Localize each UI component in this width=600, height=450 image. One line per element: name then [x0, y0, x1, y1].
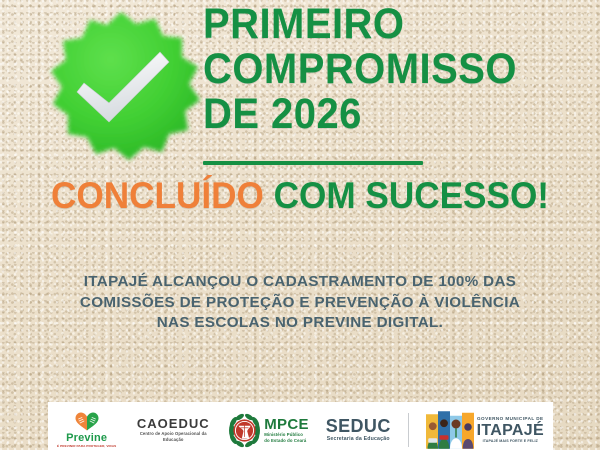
previne-name: Previne — [66, 432, 107, 444]
logo-previne: Previne É PREVINIR PARA PROTEGER, VIDAS — [57, 412, 116, 449]
seduc-subtitle: Secretaria da Educação — [327, 436, 390, 443]
caoeduc-name: CAOEDUC — [137, 417, 210, 431]
previne-tagline: É PREVINIR PARA PROTEGER, VIDAS — [57, 444, 116, 449]
subheadline-rest: COM SUCESSO! — [264, 175, 549, 216]
logo-mpce: MPCE Ministério Público do Estado do Cea… — [227, 413, 309, 448]
poster-body-text: ITAPAJÉ ALCANÇOU O CADASTRAMENTO DE 100%… — [40, 272, 560, 334]
headline-line-3: DE 2026 — [203, 92, 568, 137]
poster-subheadline: CONCLUÍDO COM SUCESSO! — [15, 176, 585, 216]
body-line-3: NAS ESCOLAS NO PREVINE DIGITAL. — [40, 313, 560, 334]
logo-seduc: SEDUC Secretaria da Educação — [326, 417, 391, 443]
body-line-1: ITAPAJÉ ALCANÇOU O CADASTRAMENTO DE 100%… — [40, 272, 560, 293]
headline-line-1: PRIMEIRO — [203, 2, 568, 47]
green-check-badge-icon — [28, 8, 214, 168]
footer-logo-bar: Previne É PREVINIR PARA PROTEGER, VIDAS … — [48, 402, 553, 450]
body-line-2: COMISSÕES DE PROTEÇÃO E PREVENÇÃO À VIOL… — [40, 293, 560, 314]
caoeduc-subtitle: Centro de Apoio Operacional da Educação — [136, 431, 210, 443]
mpce-subtitle-line2: do Estado do Ceará — [264, 438, 309, 444]
mpce-emblem-icon — [227, 413, 262, 448]
subheadline-highlight: CONCLUÍDO — [51, 175, 264, 216]
logo-caoeduc: CAOEDUC Centro de Apoio Operacional da E… — [136, 417, 210, 443]
itapaje-tagline: ITAPAJÉ MAIS FORTE E FELIZ — [483, 439, 538, 444]
footer-vertical-divider — [408, 413, 409, 447]
mpce-name: MPCE — [264, 417, 309, 432]
previne-hands-heart-icon — [74, 412, 100, 431]
headline-line-2: COMPROMISSO — [203, 47, 568, 92]
itapaje-name: ITAPAJÉ — [477, 422, 544, 439]
logo-itapaje: GOVERNO MUNICIPAL DE ITAPAJÉ ITAPAJÉ MAI… — [426, 411, 544, 449]
poster-headline: PRIMEIRO COMPROMISSO DE 2026 — [203, 2, 568, 137]
promo-poster: PRIMEIRO COMPROMISSO DE 2026 CONCLUÍDO C… — [0, 0, 600, 450]
headline-divider — [203, 161, 423, 165]
itapaje-people-illustration-icon — [426, 411, 474, 449]
seduc-name: SEDUC — [326, 417, 391, 436]
